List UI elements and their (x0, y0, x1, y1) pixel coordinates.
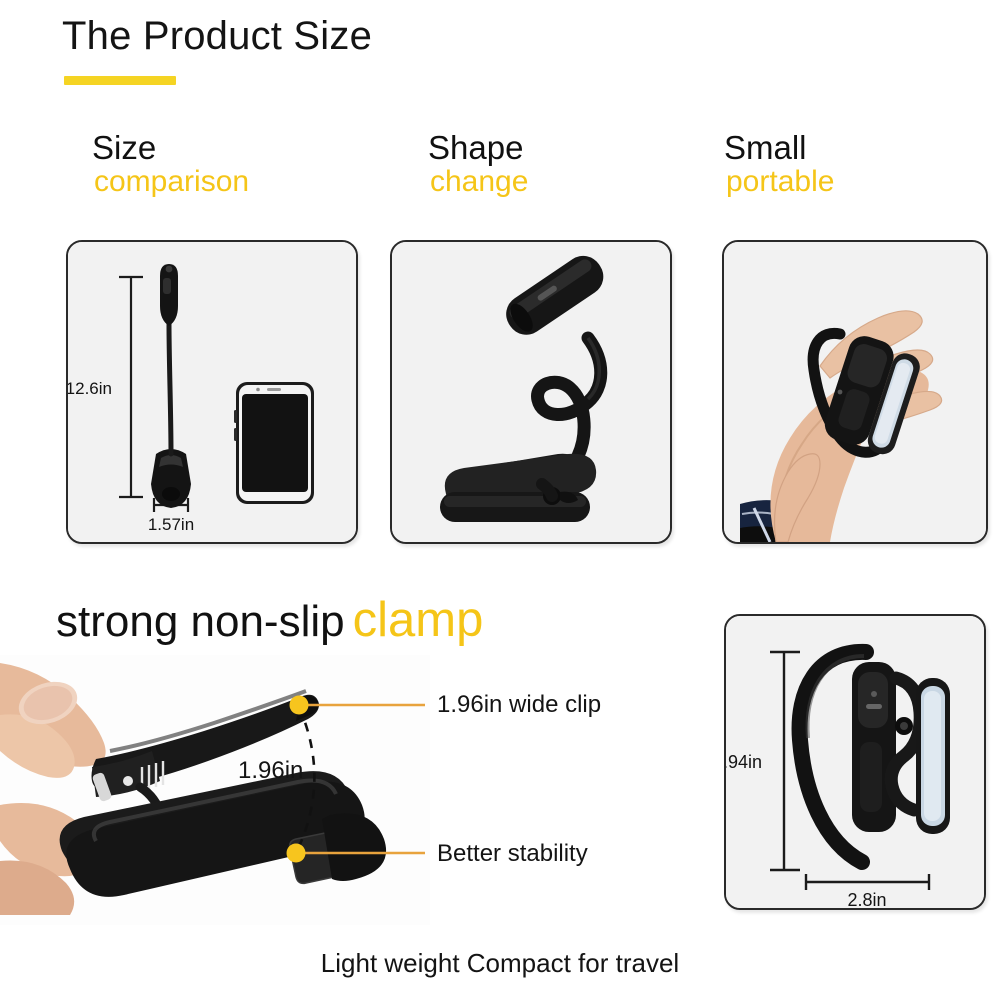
size-comparison-card: 12.6in 1.57in (66, 240, 358, 544)
column-heading-small-top: Small (724, 131, 834, 165)
size-card-height-label: 12.6in (68, 379, 112, 398)
title-underline-accent (64, 76, 176, 85)
column-heading-shape-top: Shape (428, 131, 528, 165)
column-heading-shape: Shape change (428, 131, 528, 197)
footer-text: Light weight Compact for travel (0, 948, 1000, 979)
small-portable-card (722, 240, 988, 544)
clamp-heading-black: strong non-slip (56, 597, 345, 646)
infographic-page: The Product Size Size comparison Shape c… (0, 0, 1000, 1000)
clamp-gap-label: 1.96in (238, 757, 303, 785)
callout-label-wide-clip: 1.96in wide clip (437, 691, 601, 719)
page-title: The Product Size (62, 14, 372, 59)
folded-card-width-label: 2.8in (847, 890, 886, 908)
column-heading-size-bottom: comparison (94, 167, 249, 198)
column-heading-size-top: Size (92, 131, 249, 165)
clamp-section-heading: strong non-slipclamp (56, 596, 483, 645)
clamp-heading-yellow: clamp (353, 593, 484, 647)
column-heading-small: Small portable (724, 131, 834, 197)
column-heading-size: Size comparison (92, 131, 249, 197)
folded-card-height-label: 3.94in (726, 752, 762, 772)
shape-change-card (390, 240, 672, 544)
size-card-width-label: 1.57in (148, 515, 194, 534)
clamp-photo (0, 655, 430, 925)
column-heading-shape-bottom: change (430, 167, 528, 198)
folded-dimensions-card: 3.94in 2.8in (724, 614, 986, 910)
column-heading-small-bottom: portable (726, 167, 834, 198)
callout-label-better-stability: Better stability (437, 840, 588, 868)
